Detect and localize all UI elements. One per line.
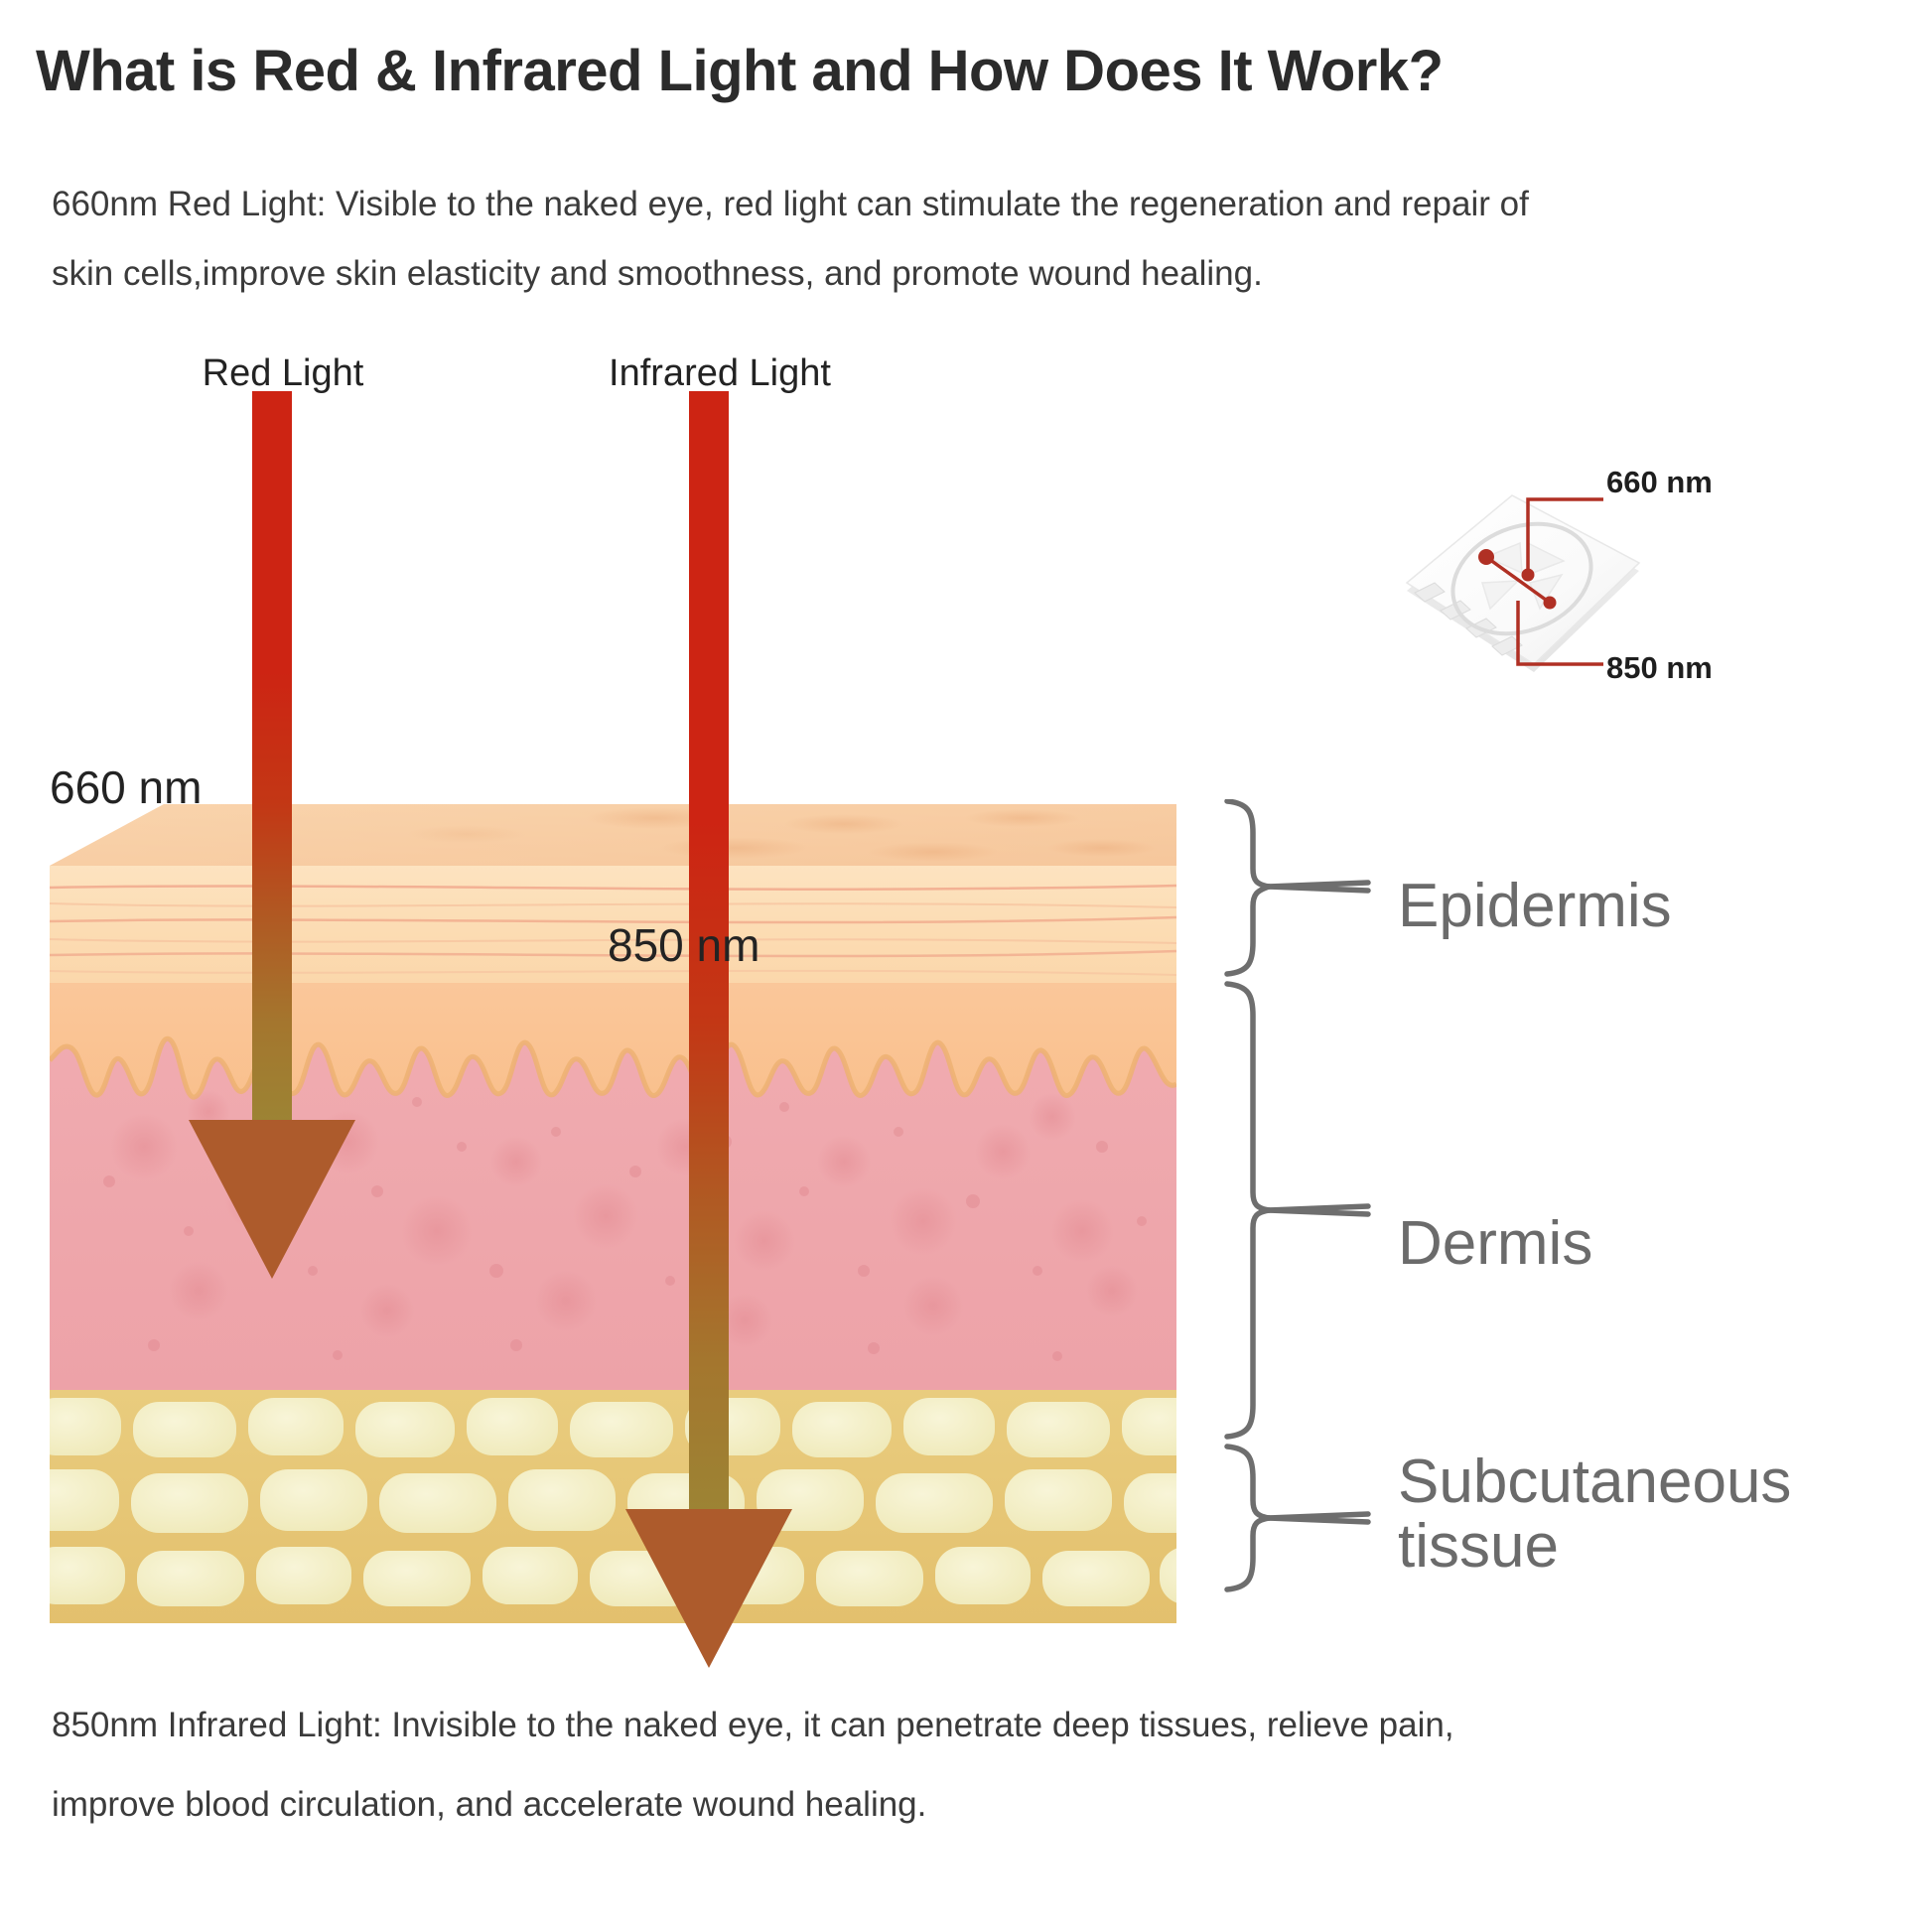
page-title: What is Red & Infrared Light and How Doe…: [36, 38, 1444, 104]
brace-dermis: [1227, 984, 1368, 1437]
led-chip-svg: [1395, 452, 1812, 710]
infographic-root: What is Red & Infrared Light and How Doe…: [0, 0, 1932, 1932]
led-callout-660-label: 660 nm: [1606, 465, 1713, 500]
skin-layer-braces: [1219, 799, 1398, 1633]
braces-svg: [1219, 799, 1398, 1633]
red-light-beam: [252, 391, 292, 1126]
led-callout-850-label: 850 nm: [1606, 650, 1713, 686]
outro-text-line-2: improve blood circulation, and accelerat…: [52, 1785, 926, 1825]
red-light-wavelength-label: 660 nm: [50, 760, 202, 814]
layer-label-dermis: Dermis: [1398, 1211, 1592, 1276]
layer-label-subcutaneous-line2: tissue: [1398, 1512, 1559, 1581]
red-light-arrow-head-icon: [189, 1120, 355, 1279]
intro-text-line-2: skin cells,improve skin elasticity and s…: [52, 254, 1263, 294]
led-chip-illustration: [1395, 452, 1812, 710]
intro-text-line-1: 660nm Red Light: Visible to the naked ey…: [52, 185, 1529, 224]
brace-subcutaneous: [1227, 1447, 1368, 1589]
layer-label-subcutaneous-line1: Subcutaneous: [1398, 1448, 1791, 1516]
layer-label-epidermis: Epidermis: [1398, 874, 1672, 938]
outro-text-line-1: 850nm Infrared Light: Invisible to the n…: [52, 1706, 1454, 1745]
infrared-light-beam-label: Infrared Light: [596, 352, 844, 395]
epidermis-top-surface: [50, 804, 1176, 866]
subcutaneous-tissue-layer: [50, 1390, 1176, 1623]
infrared-light-arrow-head-icon: [625, 1509, 792, 1668]
layer-label-subcutaneous: Subcutaneoustissue: [1398, 1449, 1791, 1579]
red-light-beam-label: Red Light: [159, 352, 407, 395]
fat-cells-group: [50, 1398, 1176, 1606]
infrared-light-wavelength-label: 850 nm: [608, 918, 759, 972]
brace-epidermis: [1227, 801, 1368, 974]
